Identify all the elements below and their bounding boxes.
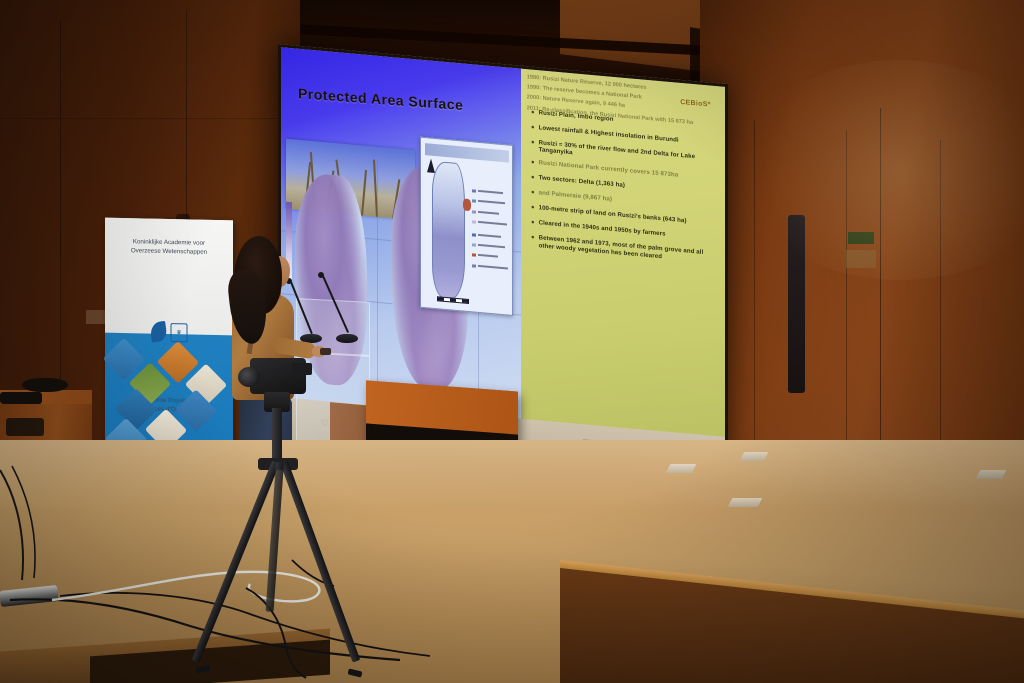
inset-map-title: [425, 143, 509, 162]
wall-seam-3: [0, 118, 300, 119]
north-arrow-icon: [427, 159, 435, 174]
map-scalebar: [437, 296, 468, 304]
bullet-dot-icon: ●: [531, 158, 535, 168]
floor-box-4: [976, 470, 1007, 479]
camera-lens: [238, 367, 260, 387]
tripod-leg-left: [192, 461, 280, 663]
bullet-list: ●Rusizi Plain, Imbo region●Lowest rainfa…: [531, 108, 717, 270]
tripod-column: [272, 408, 282, 464]
mic-stem-right: [322, 276, 349, 333]
tripod-foot-left: [347, 668, 362, 677]
bullet-dot-icon: ●: [531, 204, 535, 214]
inset-map-card: [420, 137, 513, 316]
tripod-foot-right: [195, 664, 210, 673]
presentation-photo: Protected Area Surface: [0, 0, 1024, 683]
tripod-leg-right: [280, 461, 360, 663]
equipment-item-1: [22, 378, 68, 392]
bullet-dot-icon: ●: [531, 189, 535, 199]
slide-title: Protected Area Surface: [298, 85, 464, 113]
academy-logo: ♛: [151, 322, 188, 343]
equipment-item-3: [6, 418, 44, 436]
bullet-dot-icon: ●: [531, 234, 535, 249]
leaf-icon: [149, 321, 168, 343]
mic-base-right: [336, 334, 358, 343]
bullet-text: and Palmeraie (9,867 ha): [539, 189, 613, 205]
crown-icon: ♛: [171, 323, 188, 342]
microphone-right: [318, 272, 364, 350]
floor-box-3: [728, 498, 763, 507]
slide-right-panel: CEBioS* ●Rusizi Plain, Imbo region●Lowes…: [521, 69, 725, 438]
bullet-dot-icon: ●: [531, 123, 535, 133]
camera-viewfinder: [292, 363, 312, 375]
inset-map-shape: [432, 161, 465, 301]
wall-panel-plaque: [86, 310, 106, 324]
presentation-clicker: [320, 348, 331, 355]
bullet-dot-icon: ●: [531, 174, 535, 184]
camera-tripod: [172, 358, 362, 683]
bullet-text: Two sectors: Delta (1,363 ha): [539, 174, 625, 191]
banner-white-area: [105, 218, 233, 335]
wall-seam-1: [60, 20, 61, 440]
bullet-dot-icon: ●: [531, 219, 535, 229]
bullet-dot-icon: ●: [531, 138, 535, 153]
floor-box-1: [666, 464, 697, 473]
banner-text-dutch: Koninklijke Academie voor Overzeese Wete…: [113, 238, 226, 258]
floor-box-2: [740, 452, 769, 461]
equipment-item-2: [0, 392, 42, 404]
inset-map-highlight: [463, 199, 471, 212]
